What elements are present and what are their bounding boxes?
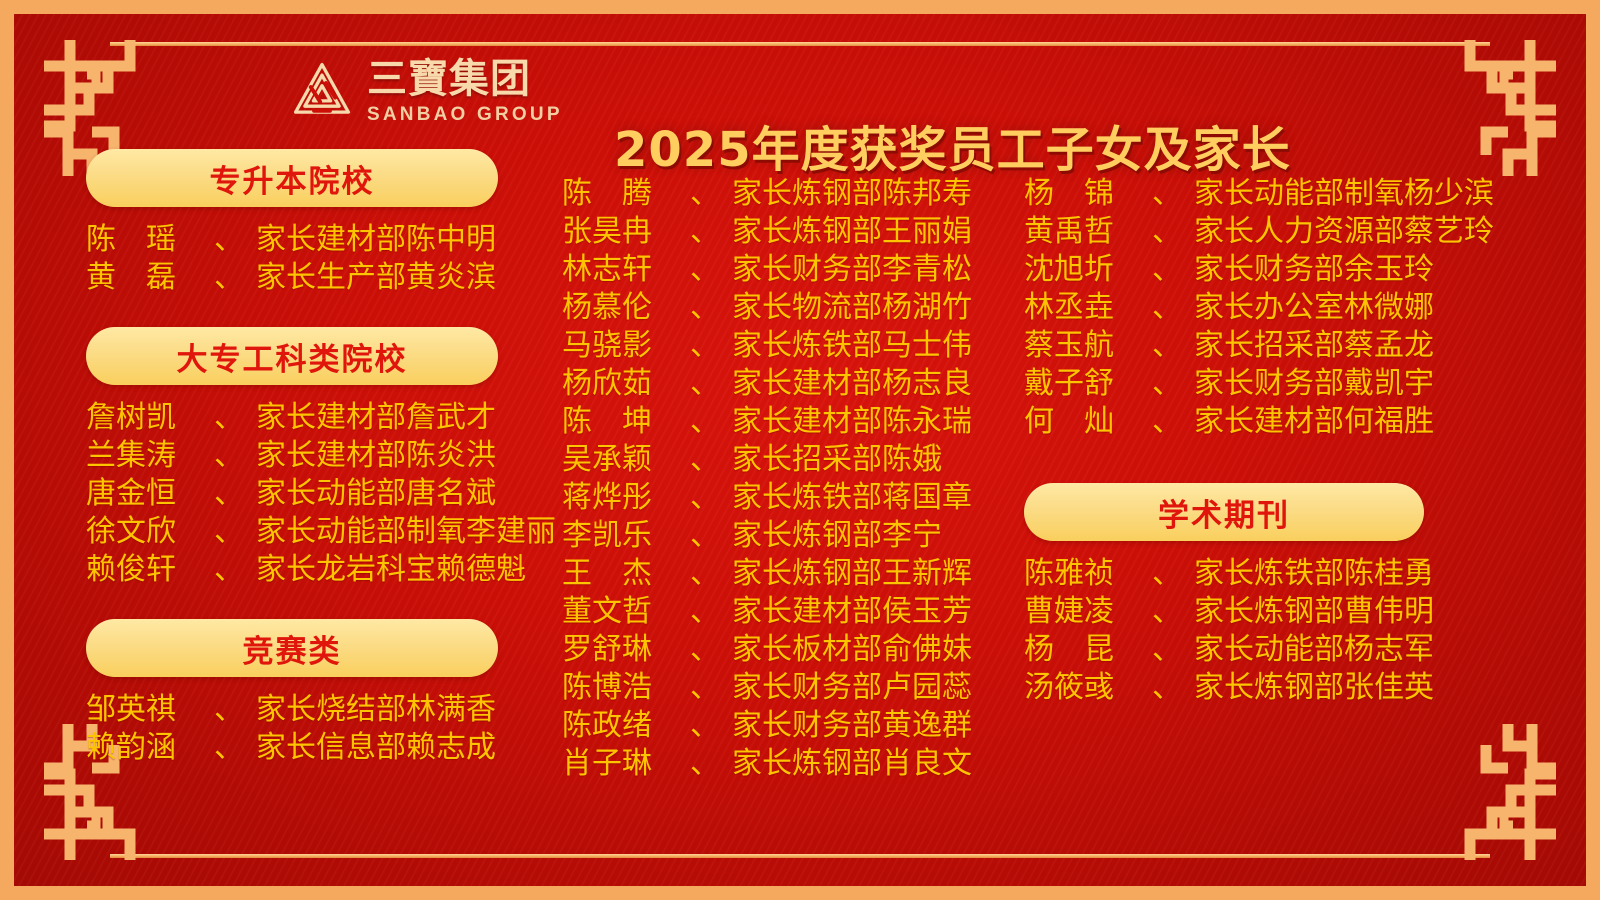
entry-parent-info: 家长人力资源部蔡艺玲 [1194, 213, 1494, 251]
entry-child-name: 陈 腾 [562, 175, 690, 213]
entry-parent-info: 家长炼钢部陈邦寿 [732, 175, 972, 213]
entry-separator: 、 [214, 729, 244, 767]
award-entry-row: 陈 腾、家长炼钢部陈邦寿 [562, 175, 1002, 213]
entry-list: 杨 锦、家长动能部制氧杨少滨黄禹哲、家长人力资源部蔡艺玲沈旭圻、家长财务部余玉玲… [1024, 175, 1524, 441]
entry-child-name: 张昊冉 [562, 213, 690, 251]
entry-child-name: 赖韵涵 [86, 729, 214, 767]
entry-separator: 、 [214, 221, 244, 259]
entry-separator: 、 [1152, 365, 1182, 403]
section-pill-label: 竞赛类 [243, 626, 342, 671]
award-entry-row: 林丞垚、家长办公室林微娜 [1024, 289, 1524, 327]
column-left: 专升本院校陈 瑶、家长建材部陈中明黄 磊、家长生产部黄炎滨大专工科类院校詹树凯、… [86, 149, 556, 767]
entry-parent-info: 家长炼钢部李宁 [732, 517, 942, 555]
entry-child-name: 陈雅祯 [1024, 555, 1152, 593]
entry-separator: 、 [1152, 593, 1182, 631]
award-entry-row: 曹婕凌、家长炼钢部曹伟明 [1024, 593, 1524, 631]
entry-separator: 、 [690, 251, 720, 289]
entry-list: 陈 瑶、家长建材部陈中明黄 磊、家长生产部黄炎滨 [86, 221, 556, 297]
entry-parent-info: 家长动能部制氧李建丽 [256, 513, 556, 551]
award-entry-row: 沈旭圻、家长财务部余玉玲 [1024, 251, 1524, 289]
entry-parent-info: 家长办公室林微娜 [1194, 289, 1434, 327]
award-entry-row: 董文哲、家长建材部侯玉芳 [562, 593, 1002, 631]
entry-separator: 、 [690, 479, 720, 517]
brand-lockup: 三寶集团 SANBAO GROUP [289, 58, 563, 124]
entry-separator: 、 [1152, 631, 1182, 669]
entry-child-name: 汤筱彧 [1024, 669, 1152, 707]
entry-parent-info: 家长建材部杨志良 [732, 365, 972, 403]
award-entry-row: 王 杰、家长炼钢部王新辉 [562, 555, 1002, 593]
poster-header: 三寶集团 SANBAO GROUP 2025年度获奖员工子女及家长 [14, 54, 1586, 149]
entry-list: 詹树凯、家长建材部詹武才兰集涛、家长建材部陈炎洪唐金恒、家长动能部唐名斌徐文欣、… [86, 399, 556, 589]
entry-separator: 、 [690, 669, 720, 707]
entry-child-name: 曹婕凌 [1024, 593, 1152, 631]
entry-parent-info: 家长财务部卢园蕊 [732, 669, 972, 707]
entry-child-name: 邹英祺 [86, 691, 214, 729]
entry-child-name: 黄 磊 [86, 259, 214, 297]
entry-parent-info: 家长炼铁部蒋国章 [732, 479, 972, 517]
entry-separator: 、 [690, 289, 720, 327]
entry-separator: 、 [690, 517, 720, 555]
entry-separator: 、 [690, 707, 720, 745]
entry-separator: 、 [214, 513, 244, 551]
section-pill-left-2[interactable]: 竞赛类 [86, 619, 498, 677]
award-entry-row: 肖子琳、家长炼钢部肖良文 [562, 745, 1002, 783]
entry-parent-info: 家长龙岩科宝赖德魁 [256, 551, 526, 589]
entry-parent-info: 家长财务部黄逸群 [732, 707, 972, 745]
entry-parent-info: 家长炼钢部曹伟明 [1194, 593, 1434, 631]
entry-child-name: 杨慕伦 [562, 289, 690, 327]
entry-child-name: 徐文欣 [86, 513, 214, 551]
top-gold-hairline [110, 42, 1490, 46]
bottom-gold-hairline [110, 854, 1490, 858]
entry-separator: 、 [690, 631, 720, 669]
entry-parent-info: 家长财务部余玉玲 [1194, 251, 1434, 289]
entry-parent-info: 家长炼钢部王新辉 [732, 555, 972, 593]
entry-separator: 、 [690, 365, 720, 403]
entry-separator: 、 [1152, 175, 1182, 213]
award-entry-row: 陈政绪、家长财务部黄逸群 [562, 707, 1002, 745]
poster-red-panel: 三寶集团 SANBAO GROUP 2025年度获奖员工子女及家长 专升本院校陈… [14, 14, 1586, 886]
entry-child-name: 王 杰 [562, 555, 690, 593]
section-pill-label: 学术期刊 [1158, 490, 1290, 535]
entry-parent-info: 家长建材部侯玉芳 [732, 593, 972, 631]
spacer [86, 297, 556, 327]
entry-child-name: 吴承颖 [562, 441, 690, 479]
entry-parent-info: 家长财务部戴凯宇 [1194, 365, 1434, 403]
entry-parent-info: 家长烧结部林满香 [256, 691, 496, 729]
award-entry-row: 何 灿、家长建材部何福胜 [1024, 403, 1524, 441]
entry-child-name: 林志轩 [562, 251, 690, 289]
entry-list: 陈 腾、家长炼钢部陈邦寿张昊冉、家长炼钢部王丽娟林志轩、家长财务部李青松杨慕伦、… [562, 175, 1002, 783]
award-entry-row: 杨 昆、家长动能部杨志军 [1024, 631, 1524, 669]
entry-child-name: 杨 锦 [1024, 175, 1152, 213]
column-middle: 陈 腾、家长炼钢部陈邦寿张昊冉、家长炼钢部王丽娟林志轩、家长财务部李青松杨慕伦、… [562, 149, 1002, 783]
section-pill-right-0[interactable]: 学术期刊 [1024, 483, 1424, 541]
entry-parent-info: 家长招采部蔡孟龙 [1194, 327, 1434, 365]
entry-separator: 、 [1152, 251, 1182, 289]
entry-child-name: 陈 坤 [562, 403, 690, 441]
spacer [1024, 441, 1524, 483]
entry-separator: 、 [214, 691, 244, 729]
entry-child-name: 肖子琳 [562, 745, 690, 783]
entry-parent-info: 家长动能部唐名斌 [256, 475, 496, 513]
entry-parent-info: 家长炼钢部肖良文 [732, 745, 972, 783]
entry-child-name: 蒋烨彤 [562, 479, 690, 517]
sanbao-triangle-logo-icon [289, 58, 355, 124]
entry-child-name: 董文哲 [562, 593, 690, 631]
entry-separator: 、 [690, 555, 720, 593]
entry-child-name: 杨欣茹 [562, 365, 690, 403]
entry-child-name: 杨 昆 [1024, 631, 1152, 669]
award-entry-row: 陈博浩、家长财务部卢园蕊 [562, 669, 1002, 707]
spacer [86, 589, 556, 619]
entry-child-name: 赖俊轩 [86, 551, 214, 589]
award-entry-row: 詹树凯、家长建材部詹武才 [86, 399, 556, 437]
page-title: 2025年度获奖员工子女及家长 [614, 110, 1291, 180]
entry-separator: 、 [214, 551, 244, 589]
entry-parent-info: 家长信息部赖志成 [256, 729, 496, 767]
award-entry-row: 吴承颖、家长招采部陈娥 [562, 441, 1002, 479]
award-entry-row: 邹英祺、家长烧结部林满香 [86, 691, 556, 729]
entry-separator: 、 [1152, 327, 1182, 365]
brand-text-block: 三寶集团 SANBAO GROUP [367, 59, 563, 124]
entry-parent-info: 家长建材部陈炎洪 [256, 437, 496, 475]
entry-separator: 、 [1152, 289, 1182, 327]
award-entry-row: 马骁影、家长炼铁部马士伟 [562, 327, 1002, 365]
award-poster: 三寶集团 SANBAO GROUP 2025年度获奖员工子女及家长 专升本院校陈… [0, 0, 1600, 900]
entry-child-name: 黄禹哲 [1024, 213, 1152, 251]
award-entry-row: 陈 瑶、家长建材部陈中明 [86, 221, 556, 259]
award-entry-row: 林志轩、家长财务部李青松 [562, 251, 1002, 289]
content-columns: 专升本院校陈 瑶、家长建材部陈中明黄 磊、家长生产部黄炎滨大专工科类院校詹树凯、… [14, 149, 1586, 846]
entry-child-name: 何 灿 [1024, 403, 1152, 441]
award-entry-row: 蔡玉航、家长招采部蔡孟龙 [1024, 327, 1524, 365]
entry-separator: 、 [214, 437, 244, 475]
award-entry-row: 李凯乐、家长炼钢部李宁 [562, 517, 1002, 555]
award-entry-row: 张昊冉、家长炼钢部王丽娟 [562, 213, 1002, 251]
entry-child-name: 詹树凯 [86, 399, 214, 437]
entry-child-name: 林丞垚 [1024, 289, 1152, 327]
entry-separator: 、 [214, 259, 244, 297]
award-entry-row: 罗舒琳、家长板材部俞佛妹 [562, 631, 1002, 669]
brand-name-en: SANBAO GROUP [367, 105, 563, 124]
entry-child-name: 陈博浩 [562, 669, 690, 707]
entry-list: 邹英祺、家长烧结部林满香赖韵涵、家长信息部赖志成 [86, 691, 556, 767]
entry-separator: 、 [1152, 403, 1182, 441]
award-entry-row: 杨欣茹、家长建材部杨志良 [562, 365, 1002, 403]
entry-child-name: 戴子舒 [1024, 365, 1152, 403]
award-entry-row: 陈雅祯、家长炼铁部陈桂勇 [1024, 555, 1524, 593]
entry-separator: 、 [690, 441, 720, 479]
award-entry-row: 杨慕伦、家长物流部杨湖竹 [562, 289, 1002, 327]
entry-parent-info: 家长炼钢部王丽娟 [732, 213, 972, 251]
entry-parent-info: 家长建材部陈中明 [256, 221, 496, 259]
entry-parent-info: 家长炼钢部张佳英 [1194, 669, 1434, 707]
entry-separator: 、 [214, 399, 244, 437]
entry-separator: 、 [690, 327, 720, 365]
entry-parent-info: 家长板材部俞佛妹 [732, 631, 972, 669]
entry-separator: 、 [690, 175, 720, 213]
entry-separator: 、 [1152, 555, 1182, 593]
entry-child-name: 李凯乐 [562, 517, 690, 555]
award-entry-row: 黄 磊、家长生产部黄炎滨 [86, 259, 556, 297]
entry-child-name: 蔡玉航 [1024, 327, 1152, 365]
entry-parent-info: 家长建材部何福胜 [1194, 403, 1434, 441]
award-entry-row: 陈 坤、家长建材部陈永瑞 [562, 403, 1002, 441]
entry-parent-info: 家长炼铁部陈桂勇 [1194, 555, 1434, 593]
entry-child-name: 沈旭圻 [1024, 251, 1152, 289]
entry-child-name: 陈 瑶 [86, 221, 214, 259]
entry-child-name: 兰集涛 [86, 437, 214, 475]
award-entry-row: 徐文欣、家长动能部制氧李建丽 [86, 513, 556, 551]
entry-child-name: 陈政绪 [562, 707, 690, 745]
entry-separator: 、 [1152, 213, 1182, 251]
entry-parent-info: 家长生产部黄炎滨 [256, 259, 496, 297]
entry-parent-info: 家长炼铁部马士伟 [732, 327, 972, 365]
section-pill-label: 专升本院校 [210, 156, 375, 201]
section-pill-label: 大专工科类院校 [177, 334, 408, 379]
award-entry-row: 兰集涛、家长建材部陈炎洪 [86, 437, 556, 475]
entry-child-name: 罗舒琳 [562, 631, 690, 669]
entry-separator: 、 [690, 745, 720, 783]
entry-separator: 、 [214, 475, 244, 513]
column-right: 杨 锦、家长动能部制氧杨少滨黄禹哲、家长人力资源部蔡艺玲沈旭圻、家长财务部余玉玲… [1024, 149, 1524, 707]
award-entry-row: 戴子舒、家长财务部戴凯宇 [1024, 365, 1524, 403]
entry-separator: 、 [1152, 669, 1182, 707]
award-entry-row: 唐金恒、家长动能部唐名斌 [86, 475, 556, 513]
entry-child-name: 马骁影 [562, 327, 690, 365]
award-entry-row: 汤筱彧、家长炼钢部张佳英 [1024, 669, 1524, 707]
entry-parent-info: 家长动能部杨志军 [1194, 631, 1434, 669]
entry-parent-info: 家长建材部陈永瑞 [732, 403, 972, 441]
entry-separator: 、 [690, 593, 720, 631]
award-entry-row: 黄禹哲、家长人力资源部蔡艺玲 [1024, 213, 1524, 251]
section-pill-left-0[interactable]: 专升本院校 [86, 149, 498, 207]
award-entry-row: 蒋烨彤、家长炼铁部蒋国章 [562, 479, 1002, 517]
entry-child-name: 唐金恒 [86, 475, 214, 513]
section-pill-left-1[interactable]: 大专工科类院校 [86, 327, 498, 385]
entry-list: 陈雅祯、家长炼铁部陈桂勇曹婕凌、家长炼钢部曹伟明杨 昆、家长动能部杨志军汤筱彧、… [1024, 555, 1524, 707]
brand-name-cn: 三寶集团 [367, 59, 563, 99]
entry-parent-info: 家长财务部李青松 [732, 251, 972, 289]
award-entry-row: 杨 锦、家长动能部制氧杨少滨 [1024, 175, 1524, 213]
entry-parent-info: 家长建材部詹武才 [256, 399, 496, 437]
entry-parent-info: 家长物流部杨湖竹 [732, 289, 972, 327]
award-entry-row: 赖韵涵、家长信息部赖志成 [86, 729, 556, 767]
entry-parent-info: 家长动能部制氧杨少滨 [1194, 175, 1494, 213]
award-entry-row: 赖俊轩、家长龙岩科宝赖德魁 [86, 551, 556, 589]
entry-parent-info: 家长招采部陈娥 [732, 441, 942, 479]
entry-separator: 、 [690, 403, 720, 441]
entry-separator: 、 [690, 213, 720, 251]
